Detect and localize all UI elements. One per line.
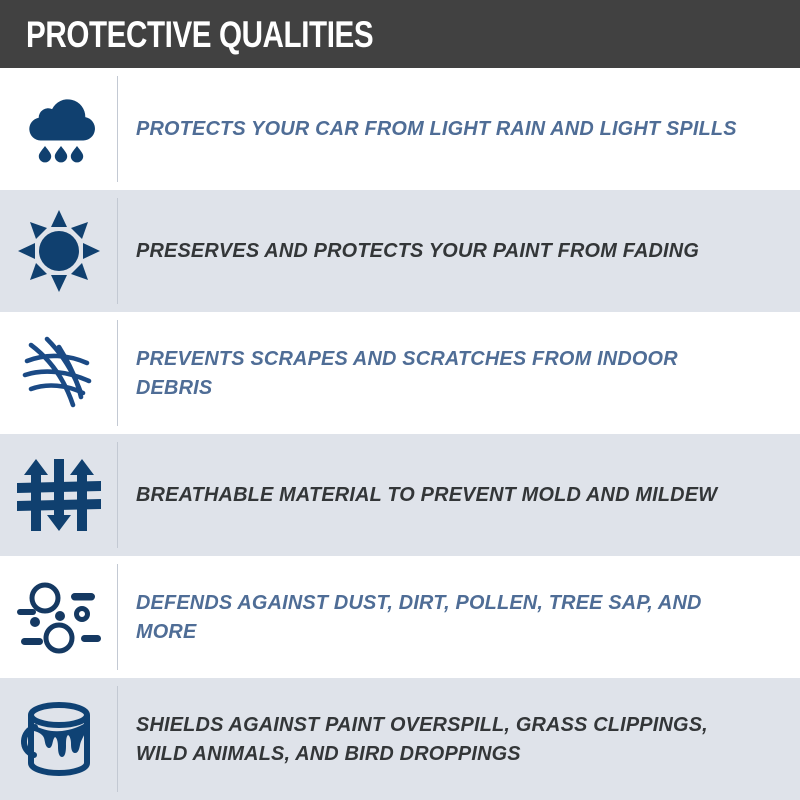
scratch-mesh-icon — [17, 331, 101, 415]
icon-cell — [0, 678, 118, 800]
feature-text: BREATHABLE MATERIAL TO PREVENT MOLD AND … — [136, 480, 717, 509]
icon-cell — [0, 68, 118, 190]
text-cell: SHIELDS AGAINST PAINT OVERSPILL, GRASS C… — [118, 678, 800, 800]
icon-cell — [0, 312, 118, 434]
feature-text: PRESERVES AND PROTECTS YOUR PAINT FROM F… — [136, 236, 699, 265]
feature-text: SHIELDS AGAINST PAINT OVERSPILL, GRASS C… — [136, 710, 759, 768]
dust-particles-icon — [15, 578, 103, 656]
paint-can-icon — [18, 697, 100, 781]
header-bar: PROTECTIVE QUALITIES — [0, 0, 800, 68]
icon-cell — [0, 434, 118, 556]
feature-row: PRESERVES AND PROTECTS YOUR PAINT FROM F… — [0, 190, 800, 312]
feature-text: DEFENDS AGAINST DUST, DIRT, POLLEN, TREE… — [136, 588, 759, 646]
feature-row: BREATHABLE MATERIAL TO PREVENT MOLD AND … — [0, 434, 800, 556]
sun-icon — [18, 210, 100, 292]
text-cell: DEFENDS AGAINST DUST, DIRT, POLLEN, TREE… — [118, 556, 800, 678]
feature-row: DEFENDS AGAINST DUST, DIRT, POLLEN, TREE… — [0, 556, 800, 678]
text-cell: PREVENTS SCRAPES AND SCRATCHES FROM INDO… — [118, 312, 800, 434]
icon-cell — [0, 556, 118, 678]
feature-list: PROTECTS YOUR CAR FROM LIGHT RAIN AND LI… — [0, 68, 800, 800]
rain-cloud-icon — [20, 90, 98, 168]
feature-row: PREVENTS SCRAPES AND SCRATCHES FROM INDO… — [0, 312, 800, 434]
feature-text: PROTECTS YOUR CAR FROM LIGHT RAIN AND LI… — [136, 114, 737, 143]
text-cell: PRESERVES AND PROTECTS YOUR PAINT FROM F… — [118, 190, 800, 312]
protective-qualities-infographic: PROTECTIVE QUALITIES PROTEC — [0, 0, 800, 800]
text-cell: BREATHABLE MATERIAL TO PREVENT MOLD AND … — [118, 434, 800, 556]
breathable-arrows-icon — [17, 455, 101, 535]
page-title: PROTECTIVE QUALITIES — [26, 16, 373, 53]
feature-row: SHIELDS AGAINST PAINT OVERSPILL, GRASS C… — [0, 678, 800, 800]
text-cell: PROTECTS YOUR CAR FROM LIGHT RAIN AND LI… — [118, 68, 800, 190]
feature-row: PROTECTS YOUR CAR FROM LIGHT RAIN AND LI… — [0, 68, 800, 190]
icon-cell — [0, 190, 118, 312]
feature-text: PREVENTS SCRAPES AND SCRATCHES FROM INDO… — [136, 344, 759, 402]
